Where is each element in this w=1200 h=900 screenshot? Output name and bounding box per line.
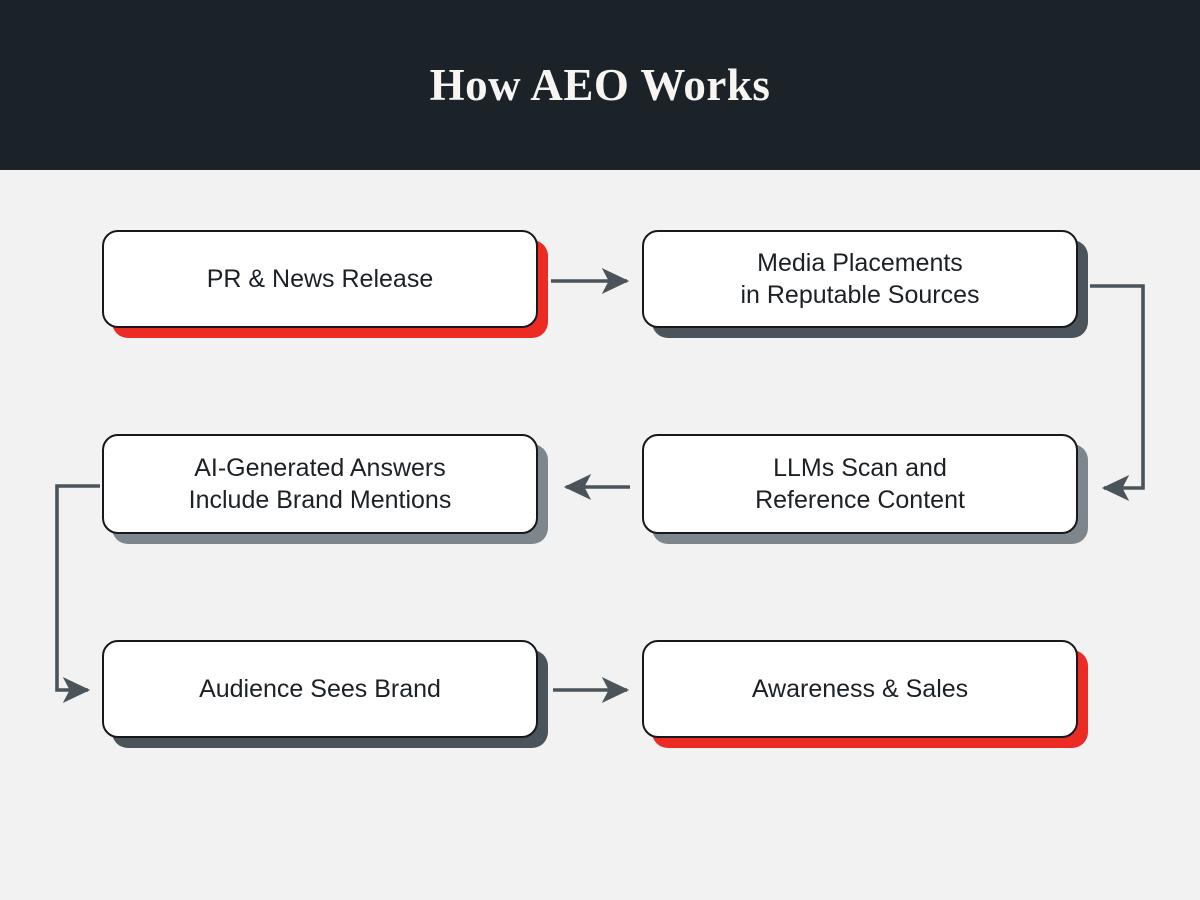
edge-n2-to-n4 (1090, 286, 1143, 488)
flow-node-audience-sees-brand[interactable]: Audience Sees Brand (102, 640, 538, 738)
flow-node-awareness-sales[interactable]: Awareness & Sales (642, 640, 1078, 738)
flow-node-media-placements[interactable]: Media Placements in Reputable Sources (642, 230, 1078, 328)
diagram-canvas: How AEO Works (0, 0, 1200, 900)
flow-node-llms-scan-reference[interactable]: LLMs Scan and Reference Content (642, 434, 1078, 534)
edge-n3-to-n5 (57, 486, 100, 690)
flow-node-ai-generated-answers[interactable]: AI-Generated Answers Include Brand Menti… (102, 434, 538, 534)
flow-node-pr-news-release[interactable]: PR & News Release (102, 230, 538, 328)
